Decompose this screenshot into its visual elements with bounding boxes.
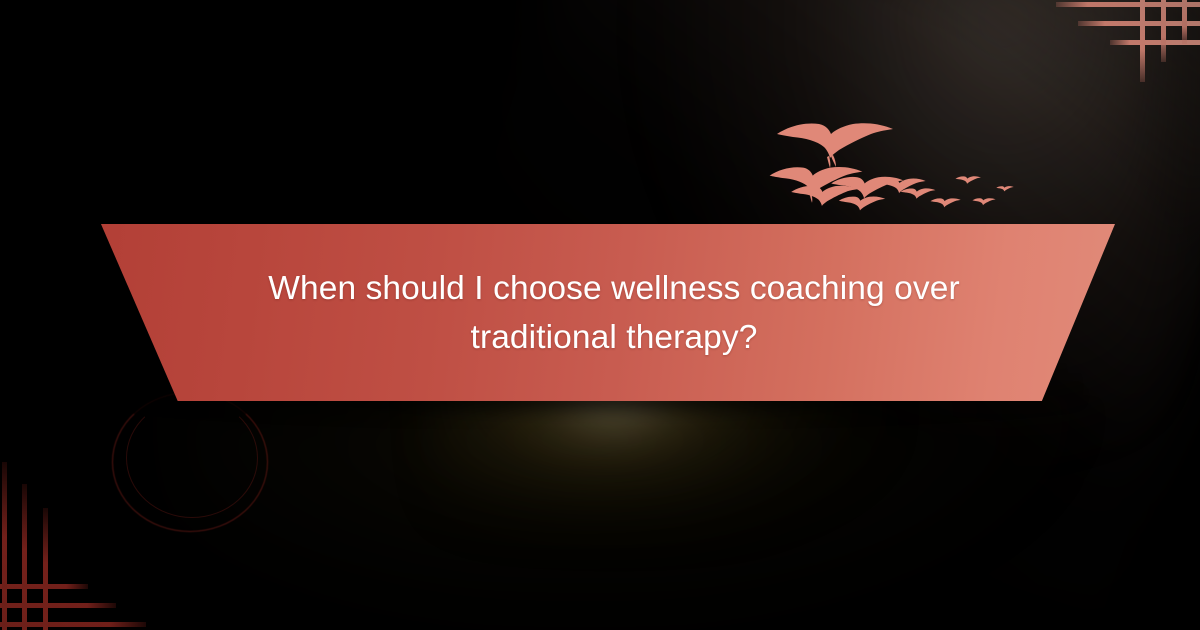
vignette-overlay xyxy=(0,0,1200,630)
quote-card: When should I choose wellness coaching o… xyxy=(0,0,1200,630)
